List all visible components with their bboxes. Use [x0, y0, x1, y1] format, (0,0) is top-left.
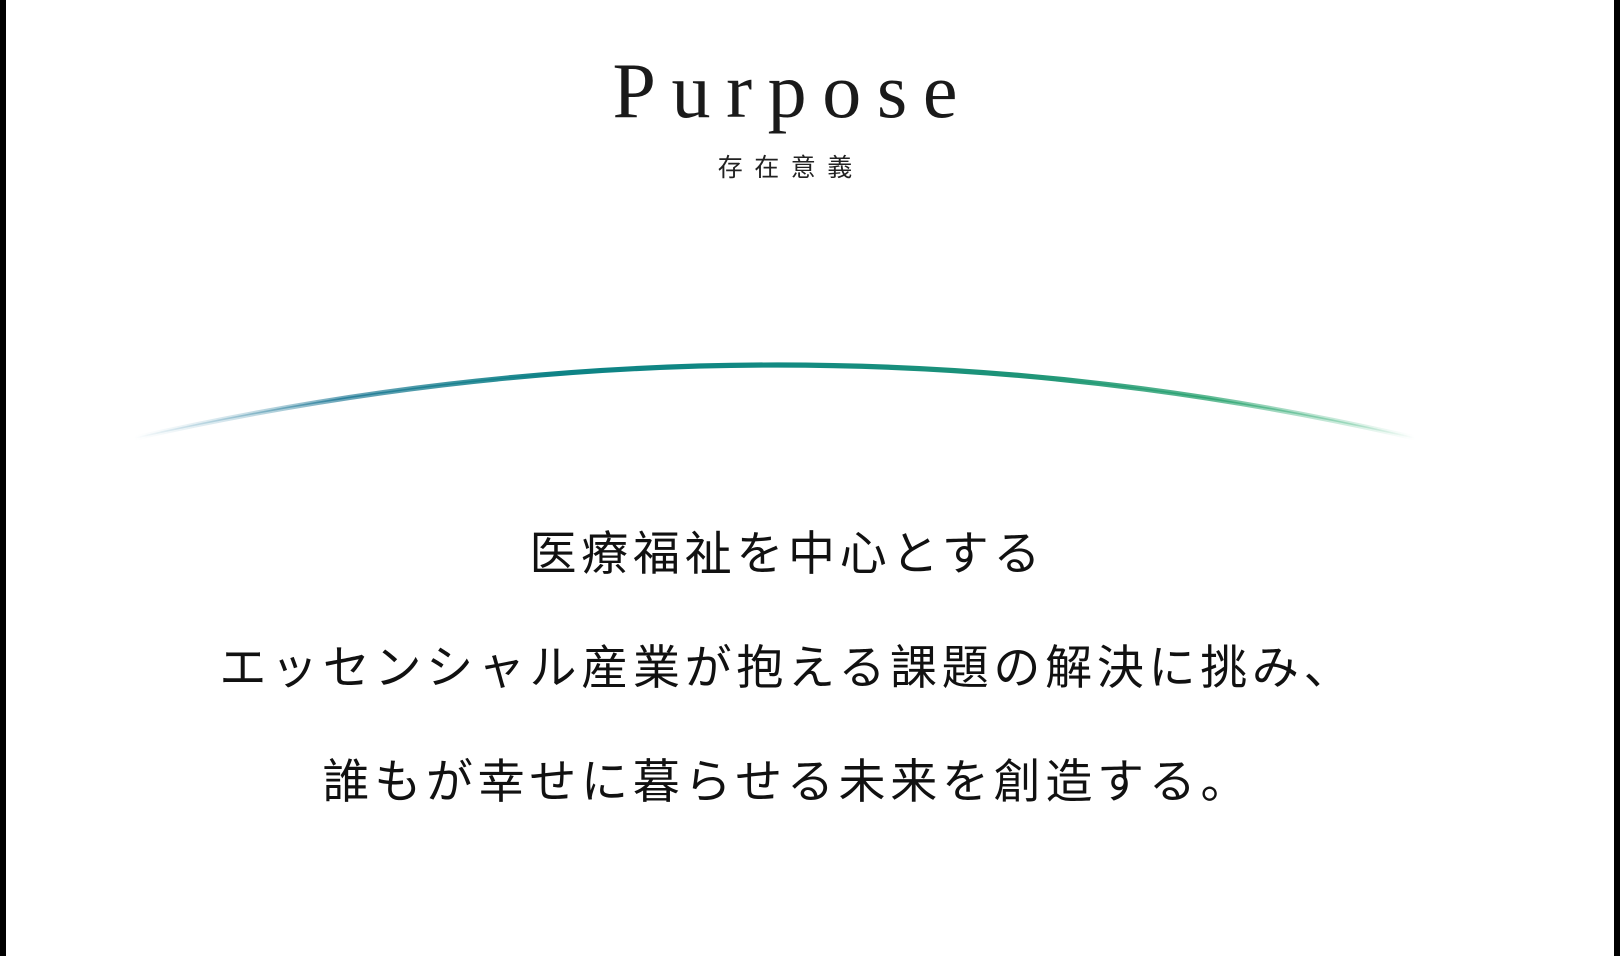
page-subtitle: 存在意義 [0, 156, 1570, 181]
statement-line-2: エッセンシャル産業が抱える課題の解決に挑み、 [0, 612, 1570, 726]
page-title: Purpose [0, 52, 1570, 130]
statement-line-1: 医療福祉を中心とする [0, 498, 1570, 612]
heading-block: Purpose 存在意義 [0, 52, 1570, 181]
purpose-slide: Purpose 存在意義 [0, 0, 1620, 956]
statement-line-3: 誰もが幸せに暮らせる未来を創造する。 [0, 726, 1570, 840]
right-edge-bar [1614, 0, 1620, 956]
decorative-arc [0, 280, 1620, 460]
purpose-statement: 医療福祉を中心とする エッセンシャル産業が抱える課題の解決に挑み、 誰もが幸せに… [0, 498, 1570, 840]
